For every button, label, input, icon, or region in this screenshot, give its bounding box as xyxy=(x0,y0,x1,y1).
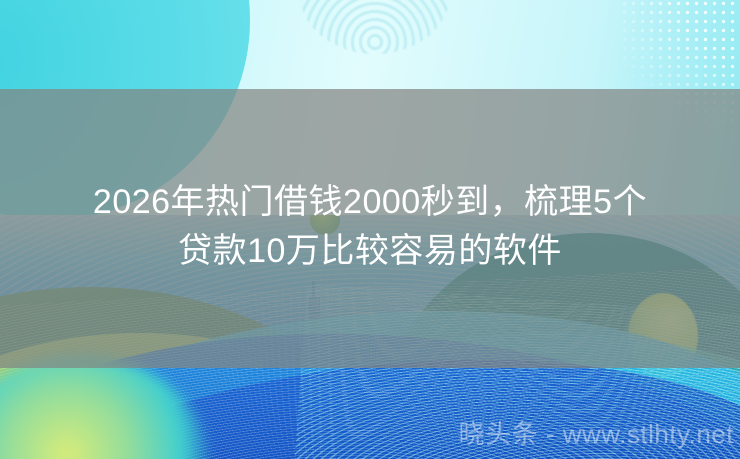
concentric-arc-swirl-icon xyxy=(300,0,450,54)
site-watermark: 晓头条 - www.stlhty.net xyxy=(459,414,734,451)
page-title: 2026年热门借钱2000秒到，梳理5个 贷款10万比较容易的软件 xyxy=(0,178,740,276)
promo-banner: 2026年热门借钱2000秒到，梳理5个 贷款10万比较容易的软件 晓头条 - … xyxy=(0,0,740,459)
